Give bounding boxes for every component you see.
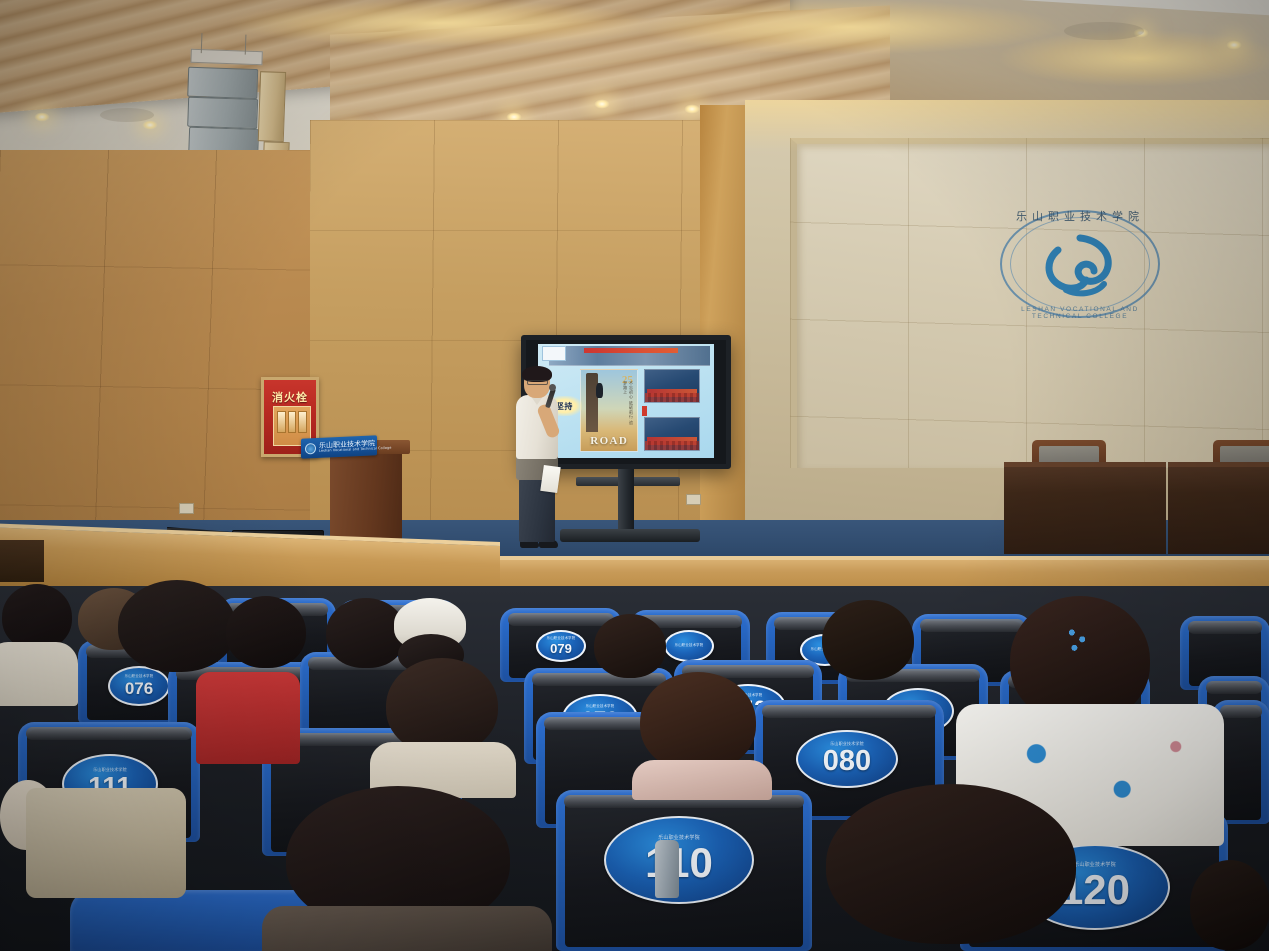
presenter-notes [540,465,560,493]
slide-banner-title-bar [584,348,678,353]
person-head [826,784,1076,944]
slide-poster-tree [586,373,598,431]
speaker-module-1 [187,67,258,99]
fire-hydrant-icon-row [277,411,307,433]
person-body [0,642,78,706]
person-head [822,600,914,680]
seat-closest-110[interactable]: 乐山职业技术学院 110 [556,790,812,951]
audience-person-5 [196,672,306,764]
slide-logo [542,346,567,361]
ceiling-vent-1 [100,108,154,122]
wall-socket-left[interactable] [179,503,194,514]
microphone-head [549,384,556,391]
emblem-swirl-mark [1028,230,1132,300]
display-stand-base [560,529,700,542]
right-wall-cove-glow [745,100,1269,152]
audience-person-4 [226,596,310,676]
hose-icon [288,411,297,433]
person-head [594,614,666,678]
seat-badge-far-3: 乐山职业技术学院 079 [536,630,586,662]
slide-photo-top [644,369,700,403]
wall-socket-right[interactable] [686,494,701,505]
ceiling-vent-2 [1064,22,1144,40]
slide-photo-bottom [644,417,700,451]
person-head [226,596,306,668]
tote-bag [26,788,186,898]
valve-icon [298,411,307,433]
lectern-logo-icon [305,443,316,454]
slide-header-banner [549,346,711,365]
emblem-english-name: LESHAN VOCATIONAL AND TECHNICAL COLLEGE [1000,306,1160,320]
stage-table-1 [1004,462,1166,554]
stage-table-2 [1168,462,1269,554]
person-head [2,584,72,650]
glasses-icon [527,380,548,385]
speaker-module-2 [187,97,258,129]
person-body [262,906,552,951]
display-stand-column [618,469,634,531]
hair-clip [1064,624,1090,658]
downlight-1 [34,112,50,122]
slide-photo-top-crowd [645,393,699,402]
seat-badge-110: 乐山职业技术学院 110 [604,816,754,904]
person-head [118,580,236,672]
speaker-side-bracket-upper [258,71,286,142]
audience-person-1 [0,584,80,704]
person-body [632,760,772,800]
lectern-body [330,448,402,548]
audience-person-13 [1190,860,1269,951]
lectern-nameplate: 乐山职业技术学院 Leshan Vocational and Technical… [301,435,377,458]
slide-photo-bottom-crowd [645,441,699,450]
fire-hydrant-label: 消火栓 [264,389,316,405]
seat-badge-080: 乐山职业技术学院 080 [796,730,898,788]
auditorium-photo: 乐山职业技术学院 LESHAN VOCATIONAL AND TECHNICAL… [0,0,1269,951]
audience-person-7 [380,658,510,786]
slide-poster-climber [596,383,603,398]
left-wall-panel-grid [0,150,330,580]
person-body [196,672,300,764]
audience-person-10 [640,672,766,790]
slide-poster-image: 25 不忘初心 砥砺前行 追梦路上 ROAD [580,369,638,452]
person-head [1190,860,1269,950]
slide-poster-vertical-text: 不忘初心 砥砺前行 追梦路上 [619,381,634,426]
slide-poster-title: ROAD [582,435,636,447]
downlight-5 [594,99,610,109]
person-head [386,658,498,754]
emblem-chinese-name: 乐山职业技术学院 [1000,208,1160,224]
downlight-9 [1226,40,1242,50]
presenter [508,368,566,550]
downlight-6 [684,104,700,114]
downlight-2 [142,120,158,130]
person-head [640,672,756,772]
slide-arrow-marker [642,406,647,416]
stage-left-side-panel [0,540,44,582]
audience-person-12 [812,784,1112,951]
college-emblem: 乐山职业技术学院 LESHAN VOCATIONAL AND TECHNICAL… [1000,210,1160,318]
extinguisher-icon [277,411,286,433]
audience-person-8 [276,786,544,951]
audience-person-11 [822,600,918,690]
water-bottle [655,840,679,898]
